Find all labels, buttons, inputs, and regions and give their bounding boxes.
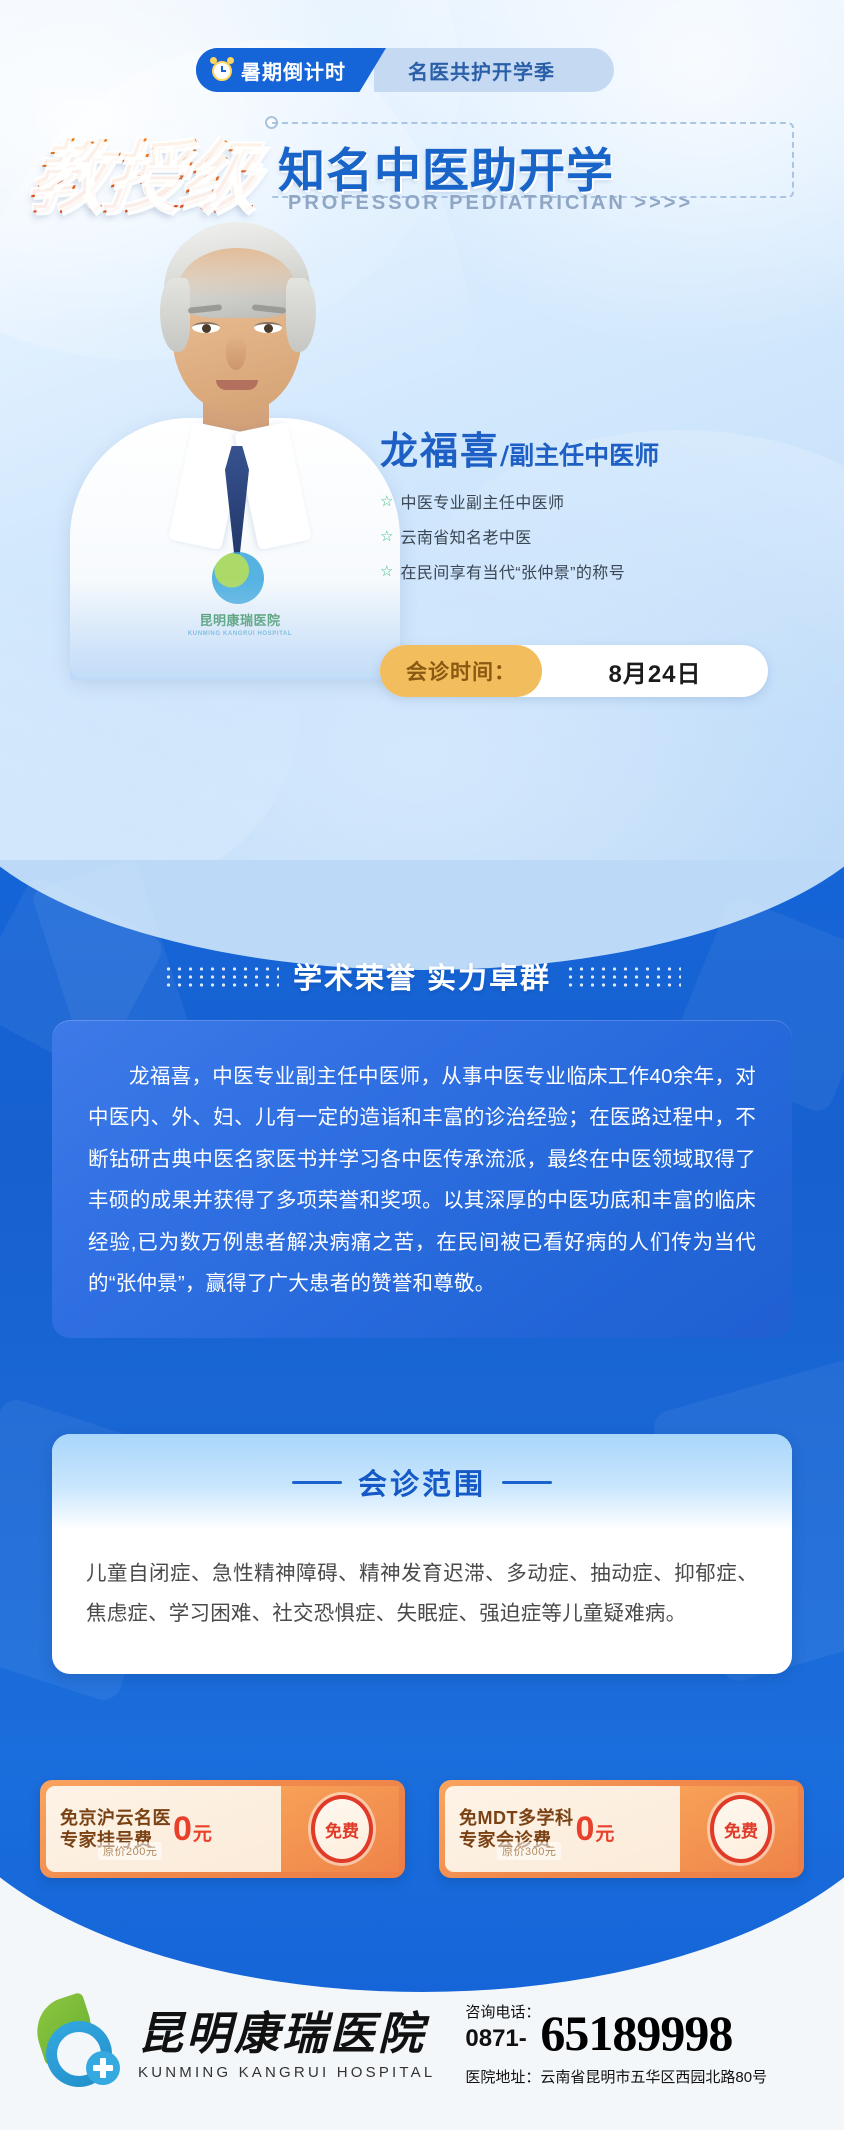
- portrait-pupil-left: [202, 324, 211, 333]
- coupon-original-price: 原价300元: [497, 1842, 561, 1860]
- content-section: [0, 860, 844, 1860]
- alarm-clock-icon: [210, 58, 234, 82]
- portrait-bottom-fade: [70, 580, 400, 680]
- address-label: 医院地址：: [465, 2069, 540, 2086]
- phone-prefix: 0871-: [465, 2023, 540, 2055]
- doctor-info: 龙福喜/副主任中医师 ☆ 中医专业副主任中医师 ☆ 云南省知名老中医 ☆ 在民间…: [380, 420, 830, 594]
- consult-scope-title: 会诊范围: [358, 1461, 486, 1503]
- coupon-card-2[interactable]: 免MDT多学科 专家会诊费 0 元 原价300元 免费: [439, 1780, 804, 1878]
- coupon-free-badge-text: 免费: [724, 1817, 758, 1842]
- star-icon: ☆: [380, 494, 393, 509]
- logo-cross-shape: [86, 2051, 120, 2085]
- coupon-free-badge: 免费: [311, 1795, 373, 1863]
- consult-time-label: 会诊时间：: [380, 645, 542, 697]
- headline-main: 知名中医助开学: [278, 132, 614, 201]
- credential-item-3: ☆ 在民间享有当代“张仲景”的称号: [380, 559, 830, 583]
- coupon-line-1: 免京沪云名医: [60, 1809, 171, 1827]
- coupon-unit: 元: [595, 1819, 614, 1846]
- headline-english: PROFESSOR PEDIATRICIAN >>>>: [288, 192, 693, 215]
- credential-text: 在民间享有当代“张仲景”的称号: [400, 559, 625, 583]
- doctor-name-row: 龙福喜/副主任中医师: [380, 420, 830, 475]
- coupon-line-1: 免MDT多学科: [459, 1809, 574, 1827]
- portrait-mouth: [216, 380, 258, 390]
- coupon-inner: 免京沪云名医 专家挂号费 0 元 原价200元 免费: [46, 1786, 399, 1872]
- poster-page: 暑期倒计时 名医共护开学季 教授级 知名中医助开学 PROFESSOR PEDI…: [0, 0, 844, 2130]
- headline-block: 教授级 知名中医助开学 PROFESSOR PEDIATRICIAN >>>>: [0, 120, 844, 230]
- coupon-amount: 0: [576, 1812, 595, 1846]
- coupon-free-badge-text: 免费: [325, 1817, 359, 1842]
- footer-phone-row: 咨询电话： 0871- 65189998: [465, 2003, 818, 2058]
- leaf-cross-logo-icon: [26, 1997, 122, 2093]
- countdown-label: 暑期倒计时: [241, 56, 346, 85]
- doctor-name: 龙福喜: [380, 428, 500, 473]
- headline-accent: 教授级: [22, 116, 266, 228]
- coupon-original-price: 原价200元: [98, 1842, 162, 1860]
- footer-section: 昆明康瑞医院 KUNMING KANGRUI HOSPITAL 咨询电话： 08…: [0, 1860, 844, 2130]
- consult-scope-header: 会诊范围: [52, 1434, 792, 1530]
- divider-right: [502, 1481, 552, 1484]
- portrait-hair-side-right: [286, 278, 316, 352]
- phone-number[interactable]: 65189998: [540, 2010, 732, 2058]
- credential-text: 中医专业副主任中医师: [400, 489, 564, 513]
- honors-heading: 学术荣誉 实力卓群: [0, 955, 844, 997]
- coupon-row: 免京沪云名医 专家挂号费 0 元 原价200元 免费 免MDT多学科: [40, 1780, 804, 1878]
- hospital-name-en: KUNMING KANGRUI HOSPITAL: [138, 2064, 435, 2081]
- credential-text: 云南省知名老中医: [400, 524, 531, 548]
- coupon-free-badge: 免费: [710, 1795, 772, 1863]
- countdown-badge: 暑期倒计时 名医共护开学季: [196, 48, 386, 92]
- footer-content: 昆明康瑞医院 KUNMING KANGRUI HOSPITAL 咨询电话： 08…: [0, 1970, 844, 2120]
- address-value: 云南省昆明市五华区西园北路80号: [540, 2069, 767, 2086]
- consult-scope-card: 会诊范围 儿童自闭症、急性精神障碍、精神发育迟滞、多动症、抽动症、抑郁症、焦虑症…: [52, 1434, 792, 1674]
- phone-label: 咨询电话：: [465, 2004, 540, 2021]
- divider-left: [292, 1481, 342, 1484]
- dot-pattern-left-icon: [163, 965, 279, 987]
- credential-item-1: ☆ 中医专业副主任中医师: [380, 489, 830, 513]
- countdown-subtitle: 名医共护开学季: [408, 48, 555, 92]
- honors-heading-text: 学术荣誉 实力卓群: [293, 955, 551, 997]
- portrait-pupil-right: [264, 324, 273, 333]
- footer-contact-block: 咨询电话： 0871- 65189998 医院地址：云南省昆明市五华区西园北路8…: [451, 2003, 818, 2087]
- hospital-name-cn: 昆明康瑞医院: [138, 2009, 435, 2059]
- coupon-unit: 元: [193, 1819, 212, 1846]
- footer-address-row: 医院地址：云南省昆明市五华区西园北路80号: [465, 2066, 818, 2087]
- star-icon: ☆: [380, 529, 393, 544]
- consult-time-banner: 会诊时间： 8月24日: [380, 645, 768, 697]
- portrait-hair-side-left: [160, 278, 190, 352]
- coupon-badge-panel: 免费: [680, 1786, 798, 1872]
- star-icon: ☆: [380, 564, 393, 579]
- consult-scope-text: 儿童自闭症、急性精神障碍、精神发育迟滞、多动症、抽动症、抑郁症、焦虑症、学习困难…: [86, 1554, 758, 1634]
- coupon-amount-group: 0 元: [574, 1812, 615, 1846]
- footer-phone-label-group: 咨询电话： 0871-: [465, 2003, 540, 2058]
- hospital-name-block: 昆明康瑞医院 KUNMING KANGRUI HOSPITAL: [138, 2009, 435, 2082]
- coupon-inner: 免MDT多学科 专家会诊费 0 元 原价300元 免费: [445, 1786, 798, 1872]
- biography-text: 龙福喜，中医专业副主任中医师，从事中医专业临床工作40余年，对中医内、外、妇、儿…: [88, 1056, 756, 1304]
- portrait-nose: [226, 336, 246, 370]
- consult-time-value: 8月24日: [542, 654, 768, 689]
- coupon-amount-group: 0 元: [171, 1812, 212, 1846]
- credential-item-2: ☆ 云南省知名老中医: [380, 524, 830, 548]
- coupon-card-1[interactable]: 免京沪云名医 专家挂号费 0 元 原价200元 免费: [40, 1780, 405, 1878]
- dot-pattern-right-icon: [565, 965, 681, 987]
- countdown-badge-left-plate: 暑期倒计时: [196, 48, 386, 92]
- biography-card: 龙福喜，中医专业副主任中医师，从事中医专业临床工作40余年，对中医内、外、妇、儿…: [52, 1020, 792, 1338]
- consult-scope-body: 儿童自闭症、急性精神障碍、精神发育迟滞、多动症、抽动症、抑郁症、焦虑症、学习困难…: [52, 1530, 792, 1674]
- coupon-badge-panel: 免费: [281, 1786, 399, 1872]
- coupon-amount: 0: [173, 1812, 192, 1846]
- doctor-role: /副主任中医师: [500, 441, 659, 470]
- doctor-portrait: 昆明康瑞医院 KUNMING KANGRUI HOSPITAL: [70, 200, 400, 670]
